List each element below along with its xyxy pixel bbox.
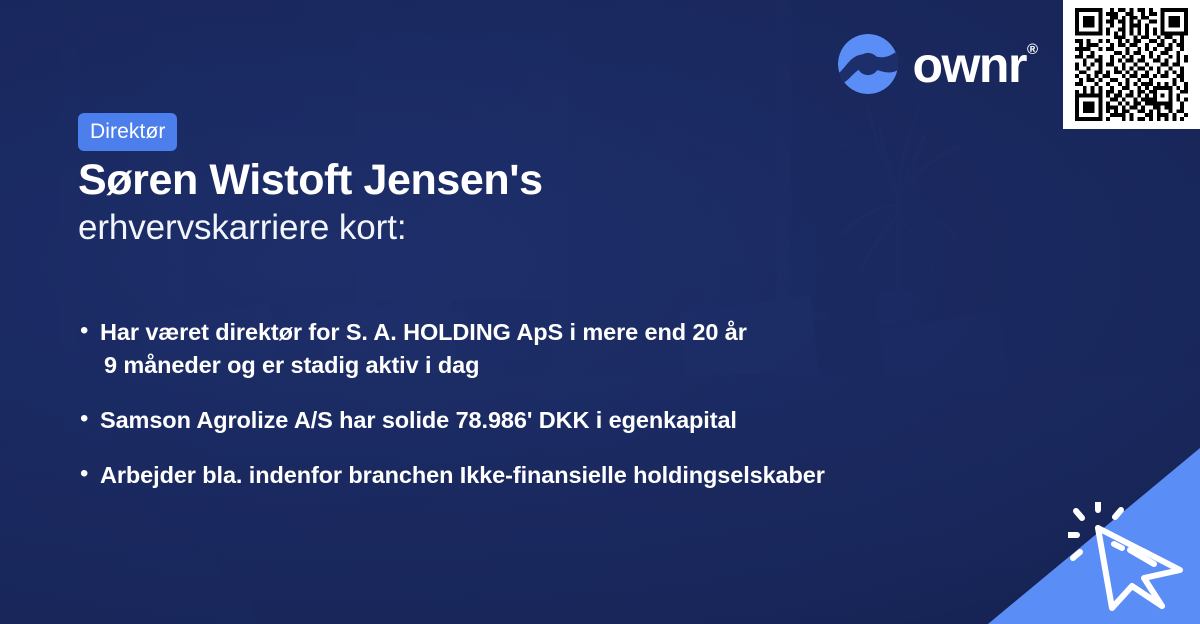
qr-code-icon: [1075, 8, 1188, 121]
list-item-line1: Samson Agrolize A/S har solide 78.986' D…: [100, 407, 737, 433]
list-item-line1: Arbejder bla. indenfor branchen Ikke-fin…: [100, 462, 825, 488]
page-subtitle: erhvervskarriere kort:: [78, 208, 406, 248]
list-item: • Har været direktør for S. A. HOLDING A…: [80, 316, 980, 382]
list-item-text: Arbejder bla. indenfor branchen Ikke-fin…: [100, 459, 825, 492]
list-item-line1: Har været direktør for S. A. HOLDING ApS…: [100, 319, 747, 345]
business-card-banner: Direktør Søren Wistoft Jensen's erhvervs…: [0, 0, 1200, 624]
ownr-wordmark: ownr®: [913, 40, 1038, 90]
bullet-icon: •: [80, 404, 100, 434]
list-item: • Samson Agrolize A/S har solide 78.986'…: [80, 404, 980, 437]
registered-trademark-icon: ®: [1027, 41, 1038, 58]
ownr-logo[interactable]: ownr®: [837, 33, 1038, 95]
qr-code-panel[interactable]: [1063, 0, 1200, 129]
bullet-icon: •: [80, 459, 100, 489]
career-highlights-list: • Har været direktør for S. A. HOLDING A…: [80, 316, 980, 514]
list-item-text: Samson Agrolize A/S har solide 78.986' D…: [100, 404, 737, 437]
role-badge: Direktør: [78, 113, 177, 151]
ownr-wordmark-text: ownr: [913, 37, 1026, 93]
page-title: Søren Wistoft Jensen's: [78, 156, 543, 205]
bullet-icon: •: [80, 316, 100, 346]
click-cursor-icon: [1068, 502, 1192, 614]
list-item-text: Har været direktør for S. A. HOLDING ApS…: [100, 316, 747, 382]
ownr-circle-swirl-icon: [837, 33, 899, 95]
list-item-line2: 9 måneder og er stadig aktiv i dag: [100, 349, 747, 382]
list-item: • Arbejder bla. indenfor branchen Ikke-f…: [80, 459, 980, 492]
